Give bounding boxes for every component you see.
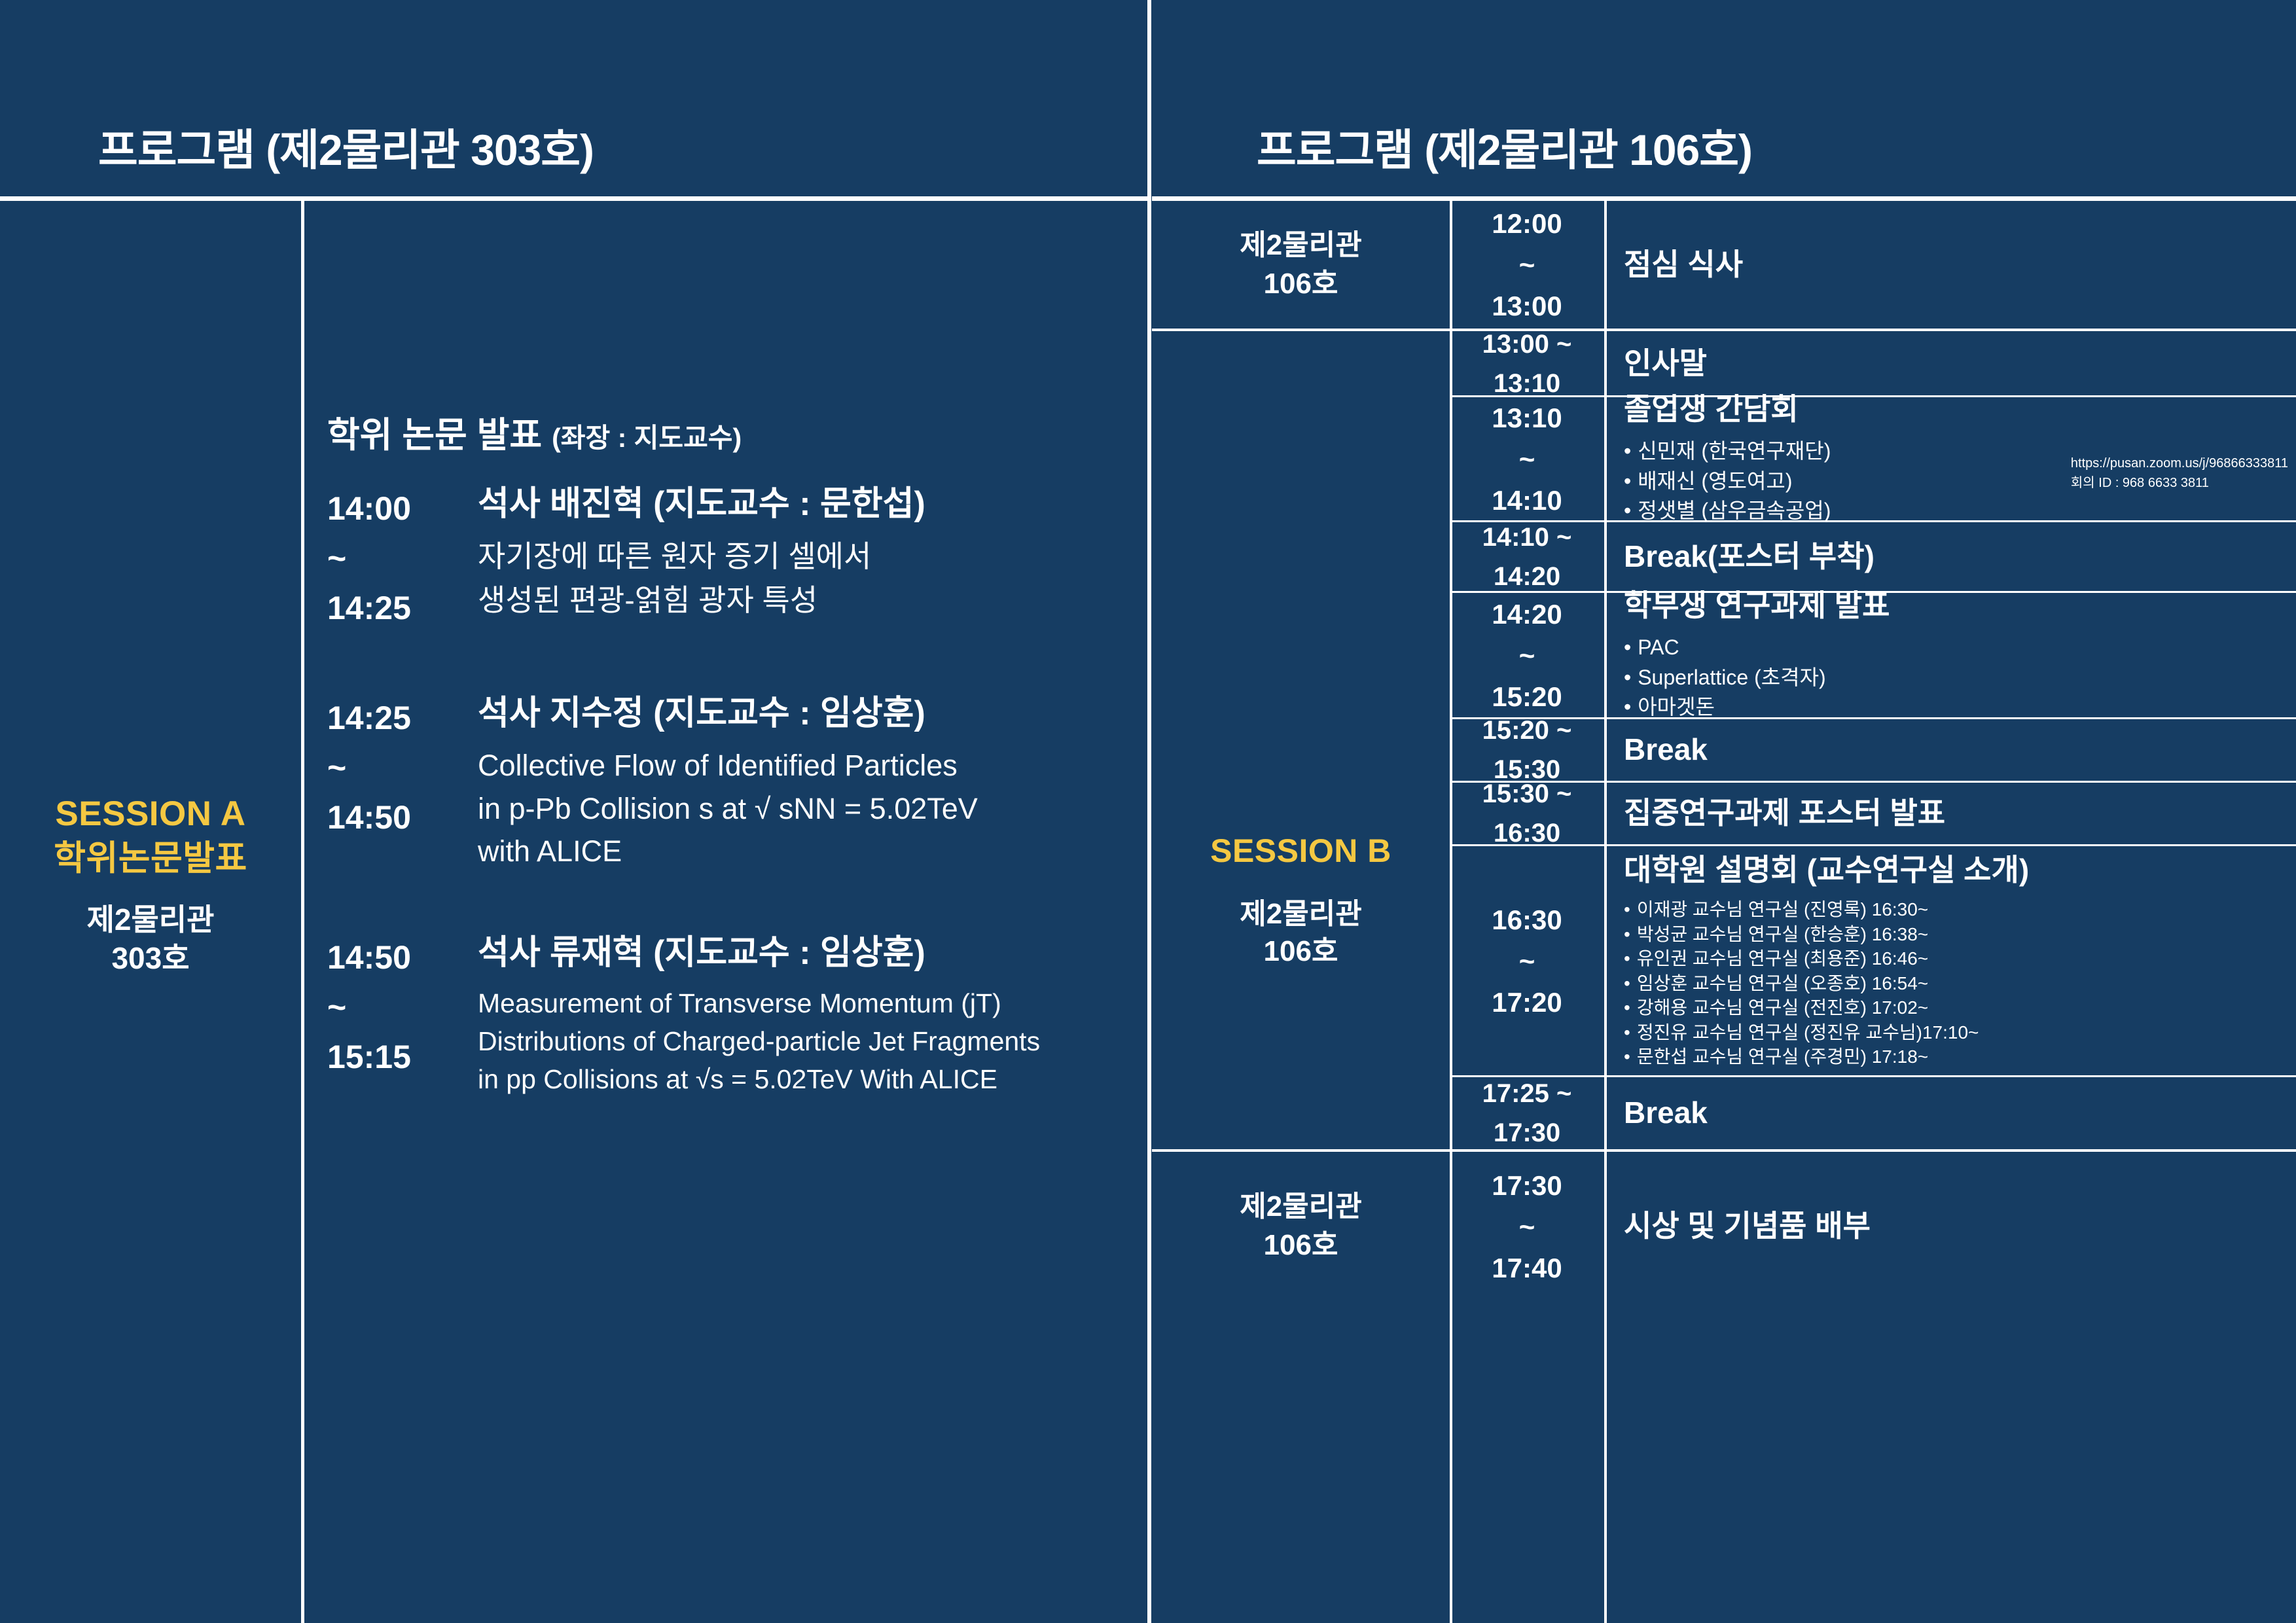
table-row: 13:10 ~ 14:10 졸업생 간담회 신민재 (한국연구재단) 배재신 (…	[1152, 397, 2296, 520]
table-hline	[1152, 329, 2296, 331]
row-room-building: 제2물리관	[1240, 1188, 1361, 1226]
talk-time-tilde: ~	[327, 743, 478, 793]
row-title: Break	[1624, 1095, 2296, 1131]
talk-item: 14:00 ~ 14:25 석사 배진혁 (지도교수 : 문한섭) 자기장에 따…	[327, 484, 1132, 633]
table-row: 14:10 ~ 14:20 Break(포스터 부착)	[1152, 522, 2296, 591]
talk-time-tilde: ~	[327, 982, 478, 1032]
left-panel: 프로그램 (제2물리관 303호) SESSION A 학위논문발표 제2물리관…	[0, 0, 1147, 1623]
talk-body: 석사 배진혁 (지도교수 : 문한섭) 자기장에 따른 원자 증기 셀에서 생성…	[478, 484, 1132, 633]
row-description: Break	[1604, 719, 2296, 781]
program-poster: 프로그램 (제2물리관 303호) SESSION A 학위논문발표 제2물리관…	[0, 0, 2296, 1623]
talk-item: 14:50 ~ 15:15 석사 류재혁 (지도교수 : 임상훈) Measur…	[327, 933, 1132, 1098]
left-panel-title: 프로그램 (제2물리관 303호)	[98, 115, 594, 178]
session-a-block: SESSION A 학위논문발표 제2물리관 303호	[0, 792, 301, 978]
row-description: 학부생 연구과제 발표 PAC Superlattice (초격자) 아마겟돈	[1604, 593, 2296, 717]
row-time: 15:30 ~ 16:30	[1450, 783, 1604, 844]
talk-list: 학위 논문 발표 (좌장 : 지도교수) 14:00 ~ 14:25 석사 배진…	[327, 406, 1132, 1158]
row-description: 대학원 설명회 (교수연구실 소개) 이재광 교수님 연구실 (진영록) 16:…	[1604, 846, 2296, 1075]
row-description: 인사말	[1604, 330, 2296, 397]
table-row: 15:20 ~ 15:30 Break	[1152, 719, 2296, 781]
table-vline-room	[1450, 201, 1452, 1623]
session-b-room: 제2물리관 106호	[1152, 895, 1450, 970]
row-title: 인사말	[1624, 346, 2296, 382]
row-title: 시상 및 기념품 배부	[1624, 1208, 2296, 1244]
section-heading-row: 학위 논문 발표 (좌장 : 지도교수)	[327, 406, 1132, 457]
table-row: 14:20 ~ 15:20 학부생 연구과제 발표 PAC Superlatti…	[1152, 593, 2296, 717]
table-row: 17:25 ~ 17:30 Break	[1152, 1077, 2296, 1149]
session-a-room-building: 제2물리관	[0, 901, 301, 940]
talk-subtitle-line3: in pp Collisions at √s = 5.02TeV With AL…	[478, 1060, 1132, 1098]
zoom-meeting-id: 회의 ID : 968 6633 3811	[2071, 473, 2288, 493]
session-b-block: SESSION B 제2물리관 106호	[1152, 830, 1450, 970]
table-vline-time	[1604, 201, 1607, 1623]
session-a-room-number: 303호	[0, 939, 301, 978]
talk-subtitle-line2: in p-Pb Collision s at √ sNN = 5.02TeV	[478, 787, 1132, 830]
talk-subtitle-line1: Measurement of Transverse Momentum (jT)	[478, 984, 1132, 1022]
talk-subtitle-line1: 자기장에 따른 원자 증기 셀에서	[478, 535, 1132, 579]
row-room-spacer	[1152, 397, 1450, 520]
row-title: Break	[1624, 732, 2296, 768]
talk-time-tilde: ~	[327, 533, 478, 583]
row-time: 13:10 ~ 14:10	[1450, 397, 1604, 520]
talk-presenter: 석사 지수정 (지도교수 : 임상훈)	[478, 693, 1132, 734]
zoom-meeting-note: https://pusan.zoom.us/j/96866333811 회의 I…	[2071, 454, 2288, 493]
list-item: 이재광 교수님 연구실 (진영록) 16:30~	[1624, 897, 2296, 922]
left-column-divider	[301, 201, 304, 1623]
table-hline	[1450, 1075, 2296, 1077]
zoom-link[interactable]: https://pusan.zoom.us/j/96866333811	[2071, 454, 2288, 473]
row-title: 대학원 설명회 (교수연구실 소개)	[1624, 852, 2296, 888]
row-description: 시상 및 기념품 배부	[1604, 1151, 2296, 1302]
talk-presenter: 석사 류재혁 (지도교수 : 임상훈)	[478, 933, 1132, 973]
session-b-room-number: 106호	[1152, 933, 1450, 970]
section-chair: (좌장 : 지도교수)	[552, 423, 742, 453]
row-title: Break(포스터 부착)	[1624, 539, 2296, 575]
talk-subtitle-line2: 생성된 편광-얽힘 광자 특성	[478, 579, 1132, 622]
session-a-room: 제2물리관 303호	[0, 901, 301, 979]
table-row: 13:00 ~ 13:10 인사말	[1152, 330, 2296, 397]
talk-time-end: 15:15	[327, 1032, 478, 1082]
row-room: 제2물리관 106호	[1152, 201, 1450, 329]
talk-time: 14:50 ~ 15:15	[327, 933, 478, 1098]
row-description: Break	[1604, 1077, 2296, 1149]
table-hline	[1450, 591, 2296, 593]
session-b-room-building: 제2물리관	[1152, 895, 1450, 933]
row-room-number: 106호	[1240, 265, 1361, 304]
row-item-list: 이재광 교수님 연구실 (진영록) 16:30~ 박성균 교수님 연구실 (한승…	[1624, 897, 2296, 1069]
session-a-label: SESSION A 학위논문발표	[0, 792, 301, 881]
row-room-spacer	[1152, 719, 1450, 781]
list-item: 유인권 교수님 연구실 (최용준) 16:46~	[1624, 946, 2296, 971]
row-description: 점심 식사	[1604, 201, 2296, 329]
row-room-spacer	[1152, 1077, 1450, 1149]
right-header-divider	[1152, 196, 2296, 201]
row-time: 17:30 ~ 17:40	[1450, 1151, 1604, 1302]
row-description: 집중연구과제 포스터 발표	[1604, 783, 2296, 844]
table-hline	[1450, 520, 2296, 522]
talk-subtitle-line3: with ALICE	[478, 830, 1132, 872]
row-title: 점심 식사	[1624, 247, 2296, 283]
talk-presenter: 석사 배진혁 (지도교수 : 문한섭)	[478, 484, 1132, 524]
row-title: 학부생 연구과제 발표	[1624, 588, 2296, 624]
session-b-label: SESSION B	[1152, 830, 1450, 872]
list-item: PAC	[1624, 633, 2296, 662]
row-time: 13:00 ~ 13:10	[1450, 330, 1604, 397]
talk-subtitle-line1: Collective Flow of Identified Particles	[478, 744, 1132, 787]
table-hline	[1450, 844, 2296, 846]
row-title: 집중연구과제 포스터 발표	[1624, 795, 2296, 831]
table-row: 제2물리관 106호 12:00 ~ 13:00 점심 식사	[1152, 201, 2296, 329]
talk-time-end: 14:50	[327, 793, 478, 842]
list-item: Superlattice (초격자)	[1624, 663, 2296, 692]
row-description: 졸업생 간담회 신민재 (한국연구재단) 배재신 (영도여고) 정샛별 (삼우금…	[1604, 397, 2296, 520]
talk-time-start: 14:00	[327, 484, 478, 533]
row-room: 제2물리관 106호	[1152, 1151, 1450, 1302]
row-description: Break(포스터 부착)	[1604, 522, 2296, 591]
left-header-divider	[0, 196, 1147, 201]
list-item: 문한섭 교수님 연구실 (주경민) 17:18~	[1624, 1044, 2296, 1069]
right-panel-title: 프로그램 (제2물리관 106호)	[1257, 115, 1752, 178]
row-time: 14:20 ~ 15:20	[1450, 593, 1604, 717]
talk-subtitle-line2: Distributions of Charged-particle Jet Fr…	[478, 1022, 1132, 1060]
talk-time: 14:25 ~ 14:50	[327, 693, 478, 872]
row-room-spacer	[1152, 522, 1450, 591]
row-room-number: 106호	[1240, 1226, 1361, 1265]
table-hline	[1450, 717, 2296, 719]
talk-time-start: 14:50	[327, 933, 478, 982]
talk-time-start: 14:25	[327, 693, 478, 743]
table-row: 제2물리관 106호 17:30 ~ 17:40 시상 및 기념품 배부	[1152, 1151, 2296, 1302]
talk-time-end: 14:25	[327, 583, 478, 633]
row-time: 16:30 ~ 17:20	[1450, 846, 1604, 1075]
list-item: 임상훈 교수님 연구실 (오종호) 16:54~	[1624, 971, 2296, 996]
row-item-list: PAC Superlattice (초격자) 아마겟돈	[1624, 633, 2296, 722]
table-hline	[1450, 395, 2296, 397]
talk-time: 14:00 ~ 14:25	[327, 484, 478, 633]
table-hline	[1450, 781, 2296, 783]
row-time: 12:00 ~ 13:00	[1450, 201, 1604, 329]
row-time: 17:25 ~ 17:30	[1450, 1077, 1604, 1149]
list-item: 박성균 교수님 연구실 (한승훈) 16:38~	[1624, 922, 2296, 947]
panel-divider	[1147, 0, 1151, 1623]
table-hline	[1152, 1149, 2296, 1152]
talk-body: 석사 류재혁 (지도교수 : 임상훈) Measurement of Trans…	[478, 933, 1132, 1098]
session-a-label-ko: 학위논문발표	[0, 836, 301, 881]
list-item: 정진유 교수님 연구실 (정진유 교수님)17:10~	[1624, 1020, 2296, 1045]
row-room-spacer	[1152, 330, 1450, 397]
row-time: 14:10 ~ 14:20	[1450, 522, 1604, 591]
row-room-spacer	[1152, 593, 1450, 717]
talk-item: 14:25 ~ 14:50 석사 지수정 (지도교수 : 임상훈) Collec…	[327, 693, 1132, 872]
section-heading: 학위 논문 발표	[327, 416, 542, 455]
list-item: 강해용 교수님 연구실 (전진호) 17:02~	[1624, 995, 2296, 1020]
talk-body: 석사 지수정 (지도교수 : 임상훈) Collective Flow of I…	[478, 693, 1132, 872]
session-a-label-en: SESSION A	[0, 792, 301, 836]
row-time: 15:20 ~ 15:30	[1450, 719, 1604, 781]
row-room-building: 제2물리관	[1240, 226, 1361, 265]
